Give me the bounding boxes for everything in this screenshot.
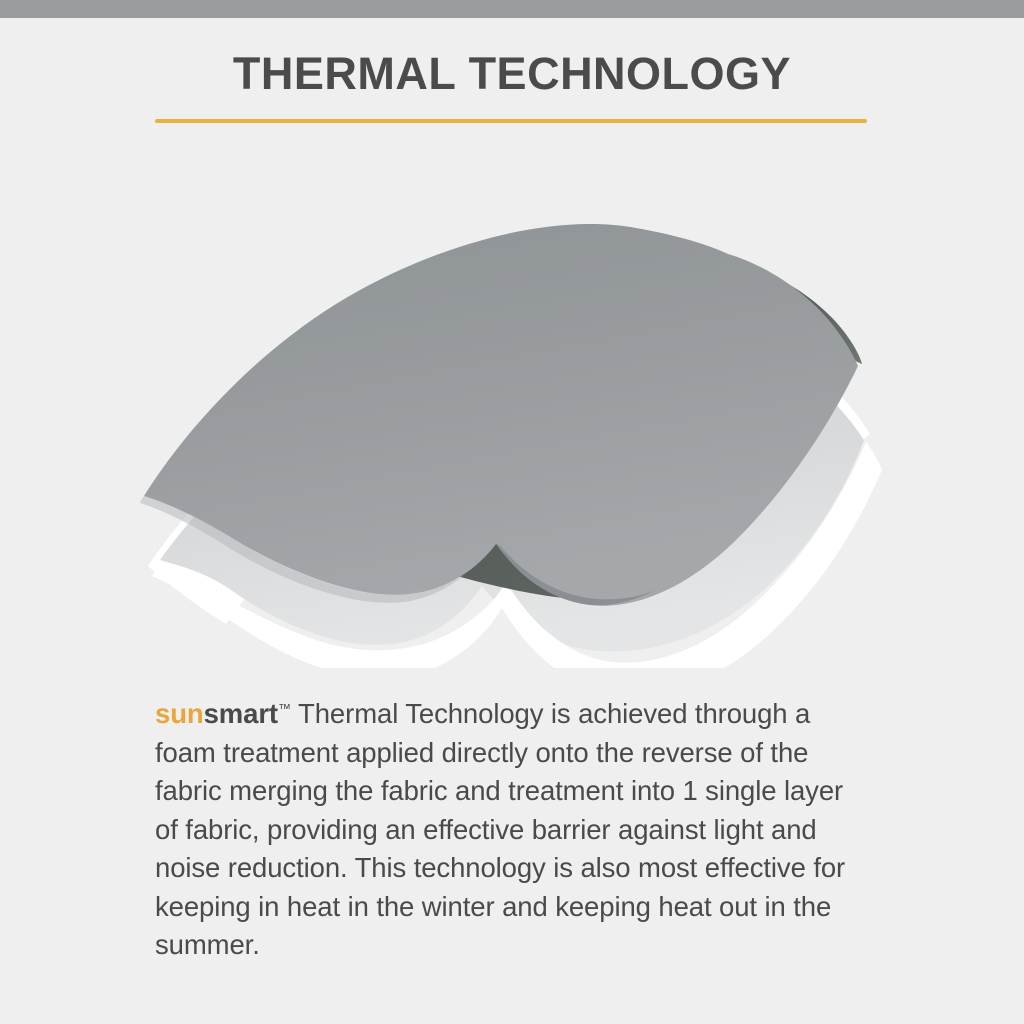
fabric-layers-svg [130,188,905,668]
title-divider-rule [155,119,867,123]
thermal-fabric-layers-illustration [130,188,905,668]
trademark-icon: ™ [278,701,291,716]
thermal-technology-page: THERMAL TECHNOLOGY [0,0,1024,1024]
paragraph-text: Thermal Technology is achieved through a… [155,698,845,960]
page-title: THERMAL TECHNOLOGY [0,48,1024,100]
body-paragraph: sunsmart™ Thermal Technology is achieved… [155,690,870,965]
sunsmart-logotype: sunsmart™ [155,698,291,729]
top-gray-bar [0,0,1024,18]
brand-smart-text: smart [204,698,278,729]
page-content: THERMAL TECHNOLOGY [0,18,1024,1024]
brand-sun-text: sun [155,698,204,729]
